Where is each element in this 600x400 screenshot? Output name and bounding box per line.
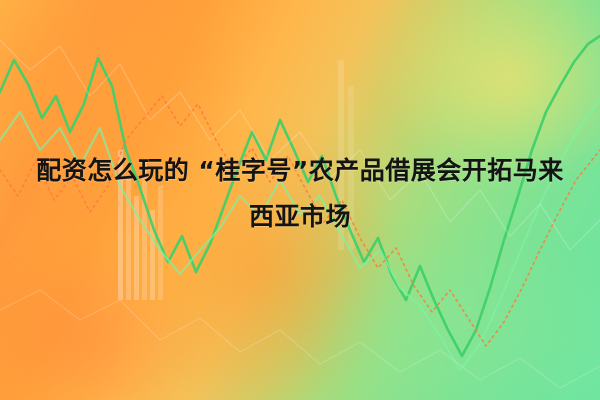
news-thumbnail-image: 配资怎么玩的 “桂字号”农产品借展会开拓马来西亚市场 <box>0 0 600 400</box>
headline-text: 配资怎么玩的 “桂字号”农产品借展会开拓马来西亚市场 <box>0 148 600 240</box>
chart-series-faint-white-line-2 <box>0 290 600 388</box>
